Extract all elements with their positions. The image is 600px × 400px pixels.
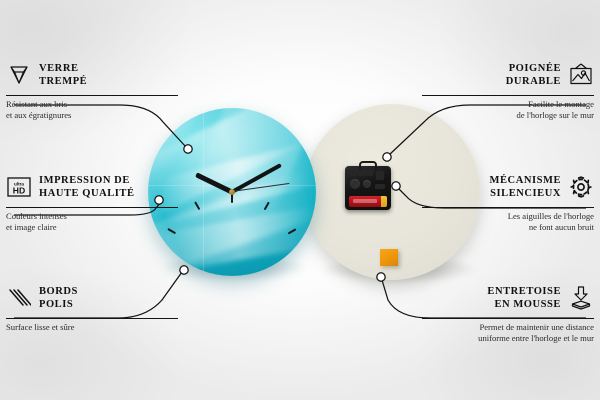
feature-divider bbox=[6, 95, 178, 96]
connector-endpoint-spacer bbox=[377, 273, 385, 281]
feature-description: Facilite le montage de l'horloge sur le … bbox=[422, 99, 594, 121]
feature-description: Résistant aux bris et aux égratignures bbox=[6, 99, 178, 121]
feature-divider bbox=[6, 207, 178, 208]
feature-header: ultra HD IMPRESSION DE HAUTE QUALITÉ bbox=[6, 170, 178, 204]
connector-endpoint-edges bbox=[180, 266, 188, 274]
feature-title-line-2: TREMPÉ bbox=[39, 76, 87, 87]
feature-description: Surface lisse et sûre bbox=[6, 322, 178, 333]
feature-description: Permet de maintenir une distance uniform… bbox=[422, 322, 594, 344]
feature-description: Les aiguilles de l'horloge ne font aucun… bbox=[422, 211, 594, 233]
feature-divider bbox=[422, 207, 594, 208]
feature-header: POIGNÉE DURABLE bbox=[422, 58, 594, 92]
feature-desc-line-1: Couleurs intenses bbox=[6, 211, 67, 221]
feature-title-line-2: DURABLE bbox=[506, 76, 561, 87]
feature-durable-handle: POIGNÉE DURABLE Facilite le montage de l… bbox=[422, 58, 594, 121]
connector-endpoint-mechanism bbox=[392, 182, 400, 190]
feature-silent-mechanism: MÉCANISME SILENCIEUX Les aiguilles de l'… bbox=[422, 170, 594, 233]
feature-title-line-1: VERRE bbox=[39, 63, 79, 74]
feature-desc-line-2: et image claire bbox=[6, 222, 57, 232]
feature-title-line-2: SILENCIEUX bbox=[490, 188, 561, 199]
gear-icon bbox=[568, 174, 594, 200]
feature-desc-line-1: Les aiguilles de l'horloge bbox=[508, 211, 594, 221]
feature-header: ENTRETOISE EN MOUSSE bbox=[422, 281, 594, 315]
feature-divider bbox=[422, 95, 594, 96]
svg-text:HD: HD bbox=[13, 185, 25, 195]
feature-foam-spacer: ENTRETOISE EN MOUSSE Permet de maintenir… bbox=[422, 281, 594, 344]
diamond-icon bbox=[6, 62, 32, 88]
feature-desc-line-1: Résistant aux bris bbox=[6, 99, 67, 109]
feature-title-line-2: EN MOUSSE bbox=[494, 299, 561, 310]
feature-title-line-1: POIGNÉE bbox=[509, 63, 561, 74]
feature-description: Couleurs intenses et image claire bbox=[6, 211, 178, 233]
feature-polished-edges: BORDS POLIS Surface lisse et sûre bbox=[6, 281, 178, 333]
feature-title: VERRE TREMPÉ bbox=[39, 62, 87, 88]
feature-desc-line-2: et aux égratignures bbox=[6, 110, 71, 120]
feature-title-line-1: ENTRETOISE bbox=[487, 286, 561, 297]
feature-title: MÉCANISME SILENCIEUX bbox=[490, 174, 561, 200]
feature-header: VERRE TREMPÉ bbox=[6, 58, 178, 92]
feature-desc-line-1: Facilite le montage bbox=[528, 99, 594, 109]
feature-title-line-2: POLIS bbox=[39, 299, 73, 310]
feature-title-line-2: HAUTE QUALITÉ bbox=[39, 188, 135, 199]
feature-title: IMPRESSION DE HAUTE QUALITÉ bbox=[39, 174, 135, 200]
feature-header: BORDS POLIS bbox=[6, 281, 178, 315]
feature-tempered-glass: VERRE TREMPÉ Résistant aux bris et aux é… bbox=[6, 58, 178, 121]
feature-high-quality-print: ultra HD IMPRESSION DE HAUTE QUALITÉ Cou… bbox=[6, 170, 178, 233]
feature-desc-line-2: uniforme entre l'horloge et le mur bbox=[478, 333, 594, 343]
feature-divider bbox=[422, 318, 594, 319]
feature-divider bbox=[6, 318, 178, 319]
feature-desc-line-1: Permet de maintenir une distance bbox=[479, 322, 594, 332]
feature-desc-line-1: Surface lisse et sûre bbox=[6, 322, 75, 332]
feature-title-line-1: MÉCANISME bbox=[490, 175, 561, 186]
foam-spacer-icon bbox=[568, 285, 594, 311]
connector-endpoint-handle bbox=[383, 153, 391, 161]
feature-title: POIGNÉE DURABLE bbox=[506, 62, 561, 88]
feature-header: MÉCANISME SILENCIEUX bbox=[422, 170, 594, 204]
infographic-canvas: VERRE TREMPÉ Résistant aux bris et aux é… bbox=[0, 0, 600, 400]
feature-title-line-1: IMPRESSION DE bbox=[39, 175, 130, 186]
ultra-hd-icon: ultra HD bbox=[6, 174, 32, 200]
polished-edges-icon bbox=[6, 285, 32, 311]
feature-title: BORDS POLIS bbox=[39, 285, 78, 311]
feature-title-line-1: BORDS bbox=[39, 286, 78, 297]
feature-desc-line-2: de l'horloge sur le mur bbox=[517, 110, 594, 120]
feature-desc-line-2: ne font aucun bruit bbox=[529, 222, 594, 232]
feature-title: ENTRETOISE EN MOUSSE bbox=[487, 285, 561, 311]
connector-endpoint-glass bbox=[184, 145, 192, 153]
hanging-frame-icon bbox=[568, 62, 594, 88]
